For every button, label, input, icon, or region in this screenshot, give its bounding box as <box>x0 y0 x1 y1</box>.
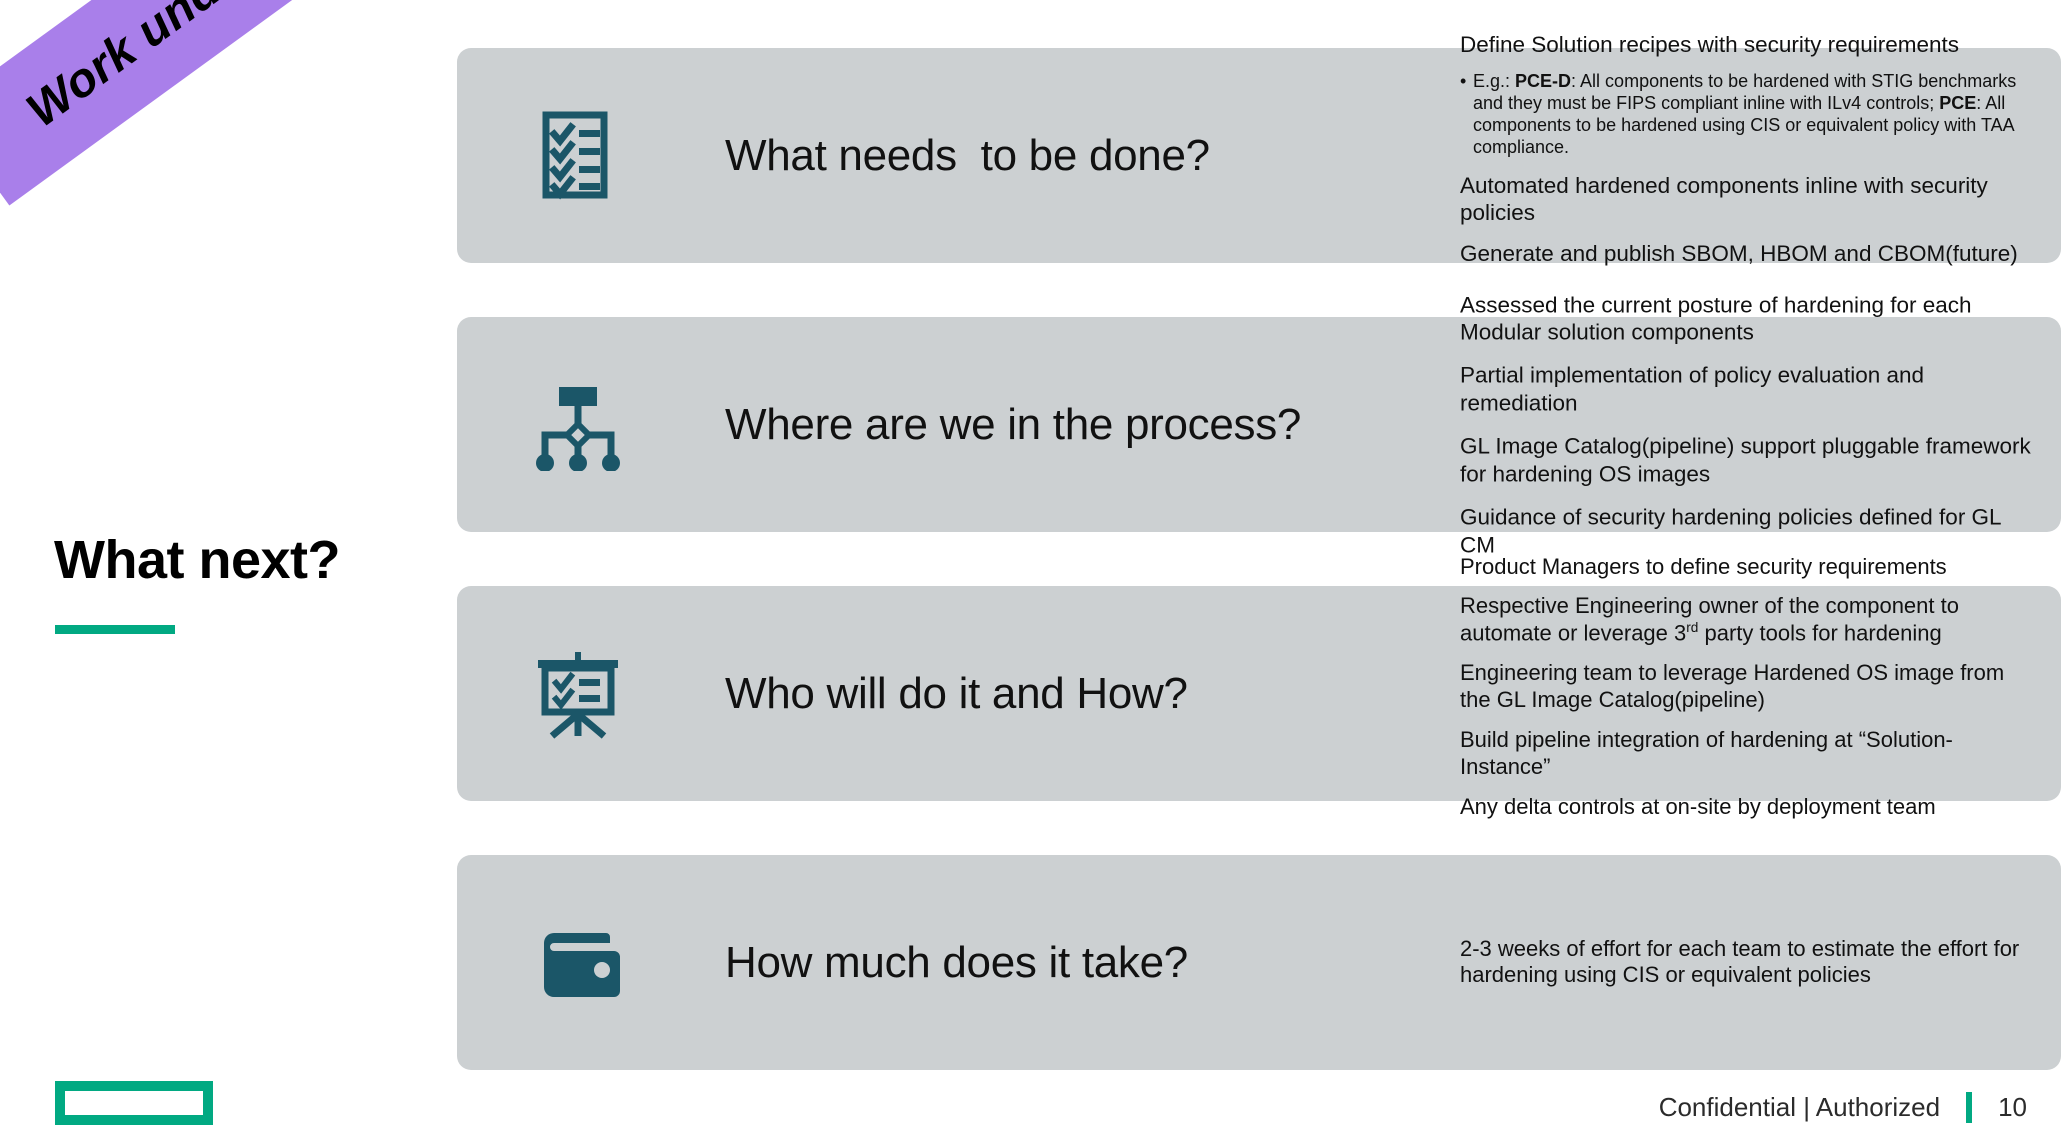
bullet-item: 2-3 weeks of effort for each team to est… <box>1460 936 2037 990</box>
card-bullet-list: Product Managers to define security requ… <box>1460 554 2037 834</box>
bullet-item: Respective Engineering owner of the comp… <box>1460 593 2037 647</box>
wallet-icon <box>532 917 624 1009</box>
hpe-logo <box>55 1081 213 1125</box>
content-card: Who will do it and How? Product Managers… <box>457 586 2061 801</box>
bullet-item: Define Solution recipes with security re… <box>1460 31 2037 58</box>
clipboard-checklist-icon <box>532 110 624 202</box>
card-bullet-list: Assessed the current posture of hardenin… <box>1460 291 2037 559</box>
title-underline-rule <box>55 625 175 634</box>
content-card: How much does it take? 2-3 weeks of effo… <box>457 855 2061 1070</box>
bullet-superscript: rd <box>1686 620 1698 635</box>
bullet-item: Assessed the current posture of hardenin… <box>1460 291 2037 346</box>
bullet-bold-1: PCE-D <box>1515 71 1571 91</box>
presentation-board-icon <box>532 648 624 740</box>
card-heading: How much does it take? <box>725 938 1188 988</box>
bullet-item: Product Managers to define security requ… <box>1460 554 2037 581</box>
bullet-item: Build pipeline integration of hardening … <box>1460 727 2037 781</box>
footer: Confidential | Authorized 10 <box>1659 1092 2027 1123</box>
content-card: What needs to be done? Define Solution r… <box>457 48 2061 263</box>
bullet-item: Partial implementation of policy evaluat… <box>1460 362 2037 417</box>
confidentiality-label: Confidential | Authorized <box>1659 1092 1940 1123</box>
bullet-item: Automated hardened components inline wit… <box>1460 172 2037 227</box>
banner-label: Work under Progress <box>16 0 450 138</box>
bullet-item: Generate and publish SBOM, HBOM and CBOM… <box>1460 240 2037 267</box>
bullet-item: GL Image Catalog(pipeline) support plugg… <box>1460 433 2037 488</box>
page-number: 10 <box>1998 1092 2027 1123</box>
card-bullet-list: 2-3 weeks of effort for each team to est… <box>1460 936 2037 990</box>
page-title: What next? <box>54 533 340 587</box>
content-card: Where are we in the process? Assessed th… <box>457 317 2061 532</box>
footer-separator <box>1966 1092 1972 1123</box>
bullet-item: Engineering team to leverage Hardened OS… <box>1460 660 2037 714</box>
bullet-bold-2: PCE <box>1939 93 1976 113</box>
card-bullet-list: Define Solution recipes with security re… <box>1460 31 2037 281</box>
work-under-progress-banner: Work under Progress <box>0 0 527 205</box>
bullet-item-sub: E.g.: PCE-D: All components to be harden… <box>1460 71 2037 159</box>
bullet-item: Guidance of security hardening policies … <box>1460 503 2037 558</box>
bullet-text-post: party tools for hardening <box>1698 621 1941 646</box>
card-heading: Who will do it and How? <box>725 669 1188 719</box>
bullet-lead: E.g.: <box>1473 71 1515 91</box>
hierarchy-icon <box>532 379 624 471</box>
card-heading: Where are we in the process? <box>725 400 1301 450</box>
card-heading: What needs to be done? <box>725 131 1210 181</box>
bullet-item: Any delta controls at on-site by deploym… <box>1460 794 2037 821</box>
